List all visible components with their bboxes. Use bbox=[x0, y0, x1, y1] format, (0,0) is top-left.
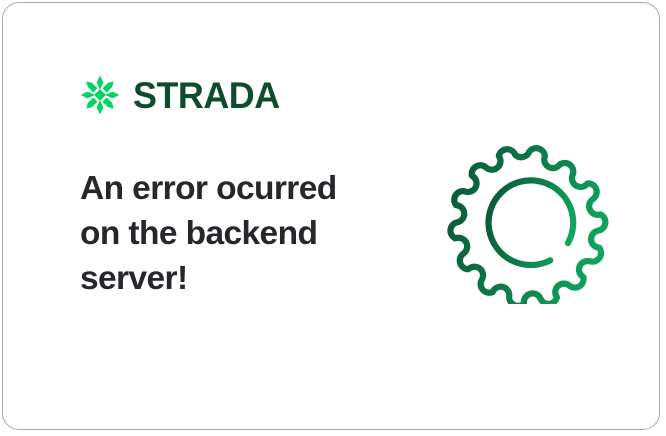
strada-asterisk-icon bbox=[79, 74, 121, 116]
error-card: STRADA An error ocurred on the backend s… bbox=[2, 2, 660, 430]
gear-icon bbox=[446, 138, 612, 304]
brand-wordmark: STRADA bbox=[133, 77, 280, 114]
error-headline: An error ocurred on the backend server! bbox=[80, 166, 380, 301]
brand-logo: STRADA bbox=[79, 71, 284, 119]
